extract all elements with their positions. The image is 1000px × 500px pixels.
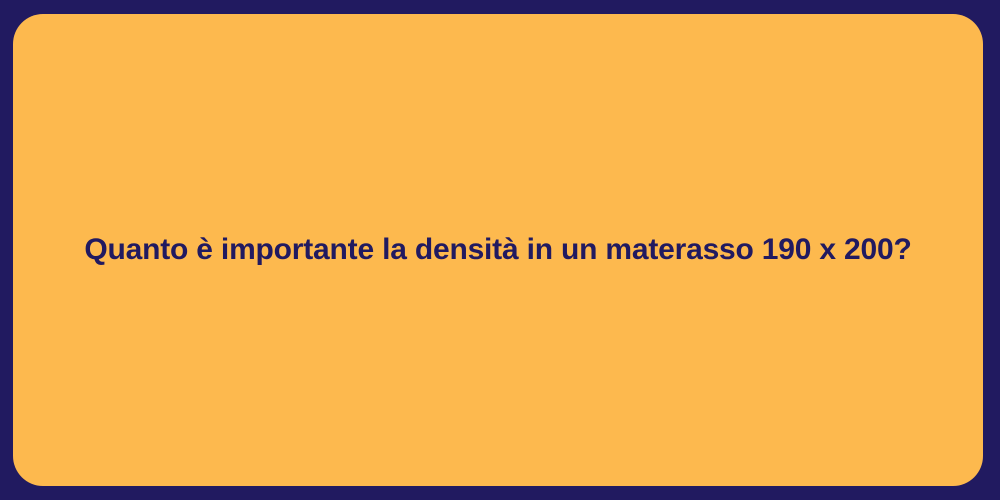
banner-content-panel: Quanto è importante la densità in un mat… xyxy=(13,14,983,486)
banner-frame: Quanto è importante la densità in un mat… xyxy=(0,0,1000,500)
banner-headline: Quanto è importante la densità in un mat… xyxy=(54,231,941,269)
